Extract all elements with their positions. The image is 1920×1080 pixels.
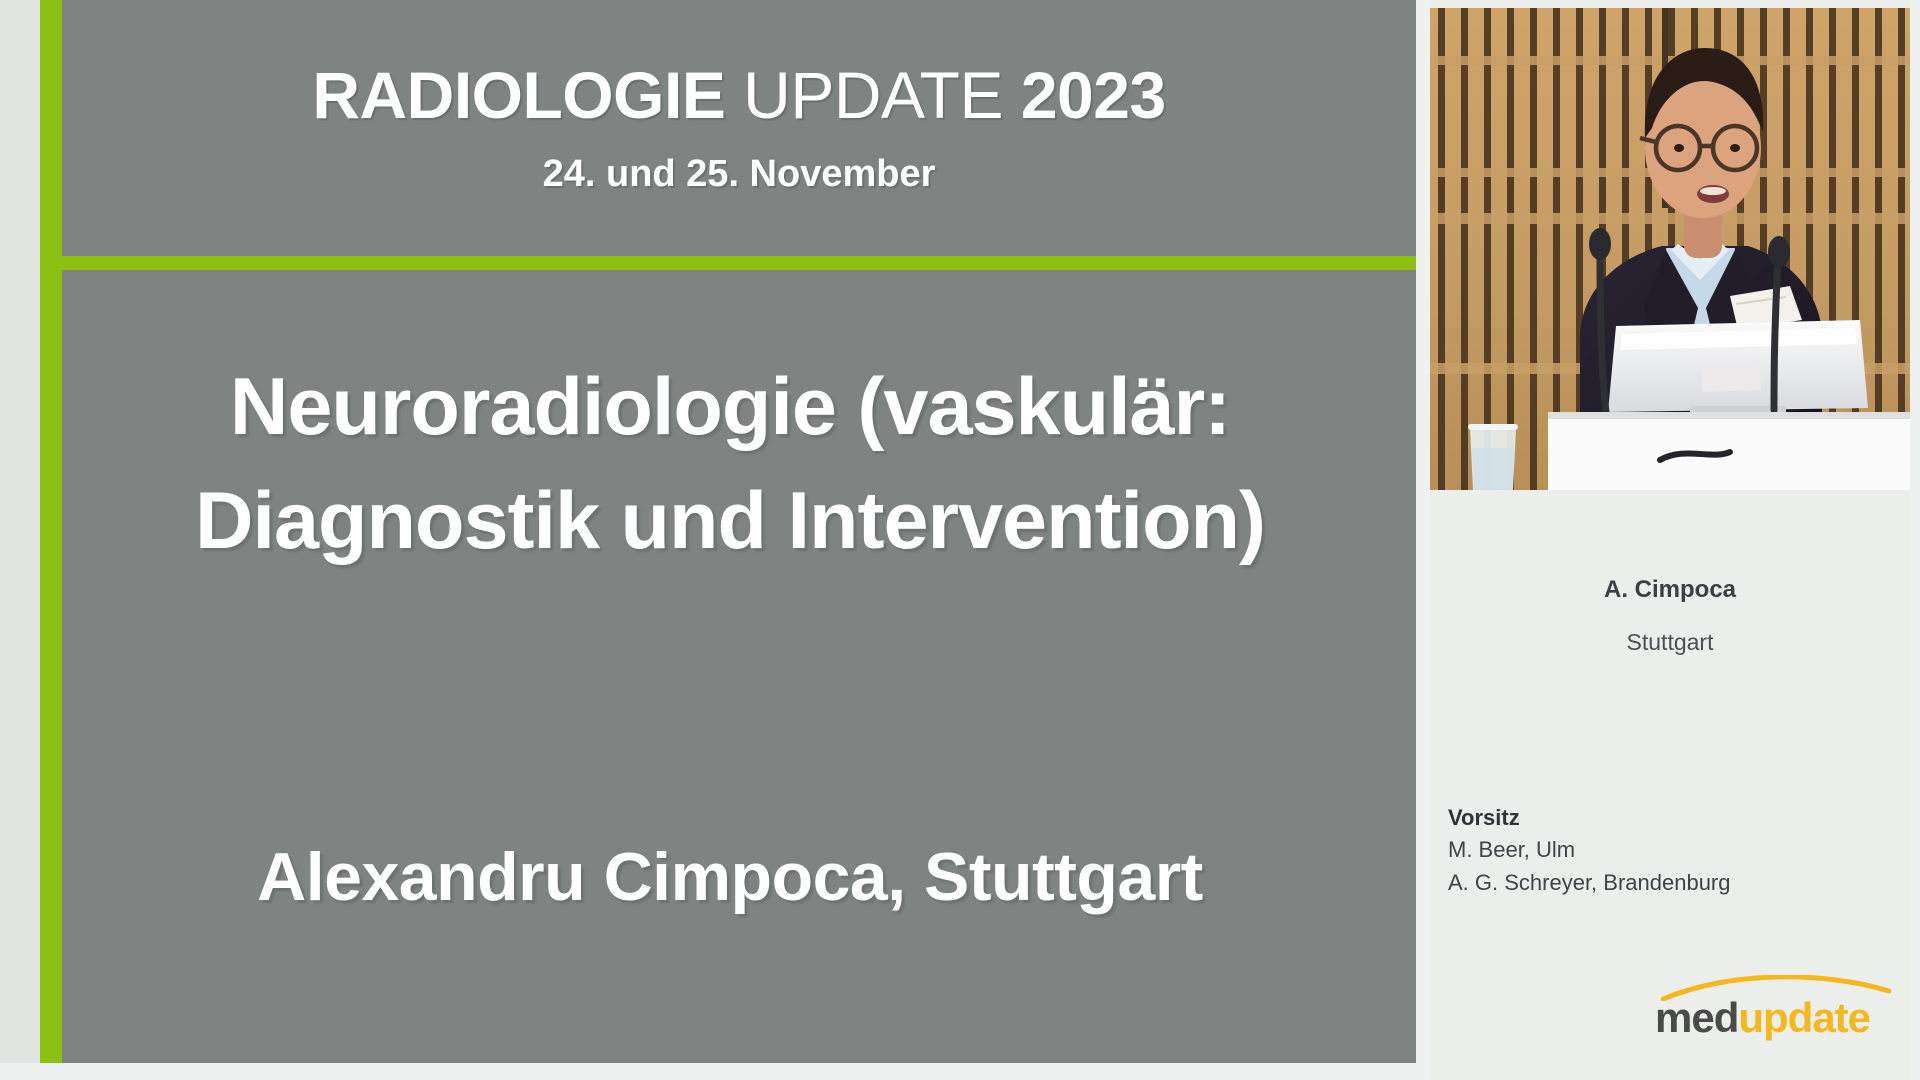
speaker-info-block: A. Cimpoca Stuttgart	[1430, 575, 1910, 657]
chair-info-block: Vorsitz M. Beer, Ulm A. G. Schreyer, Bra…	[1448, 803, 1898, 899]
slide-body: Neuroradiologie (vaskulär: Diagnostik un…	[40, 270, 1416, 1063]
accent-rail-header-segment	[40, 0, 62, 256]
event-title: RADIOLOGIE UPDATE 2023	[62, 58, 1416, 132]
speaker-city: Stuttgart	[1430, 627, 1910, 657]
podium-scene-illustration	[1430, 8, 1910, 490]
event-dates: 24. und 25. November	[62, 152, 1416, 196]
header-divider	[40, 256, 1416, 270]
medupdate-logo[interactable]: medupdate	[1655, 975, 1891, 1043]
logo-word-med: med	[1655, 994, 1738, 1041]
event-title-year: 2023	[1021, 58, 1166, 132]
slide-header: RADIOLOGIE UPDATE 2023 24. und 25. Novem…	[40, 0, 1416, 256]
chair-label: Vorsitz	[1448, 803, 1898, 833]
chair-person-2: A. G. Schreyer, Brandenburg	[1448, 866, 1898, 899]
lecture-title: Neuroradiologie (vaskulär: Diagnostik un…	[80, 350, 1380, 578]
slide-canvas: RADIOLOGIE UPDATE 2023 24. und 25. Novem…	[0, 0, 1416, 1063]
logo-wordmark: medupdate	[1655, 993, 1891, 1043]
logo-word-update: update	[1738, 994, 1870, 1041]
event-title-brand: RADIOLOGIE	[312, 58, 725, 132]
lecture-speaker: Alexandru Cimpoca, Stuttgart	[80, 837, 1380, 917]
accent-rail-body-segment	[40, 270, 62, 1063]
event-title-update: UPDATE	[725, 58, 1020, 132]
presentation-viewer: RADIOLOGIE UPDATE 2023 24. und 25. Novem…	[0, 0, 1920, 1080]
chair-person-1: M. Beer, Ulm	[1448, 833, 1898, 866]
speaker-video-thumbnail[interactable]	[1430, 8, 1910, 490]
speaker-name: A. Cimpoca	[1430, 575, 1910, 605]
